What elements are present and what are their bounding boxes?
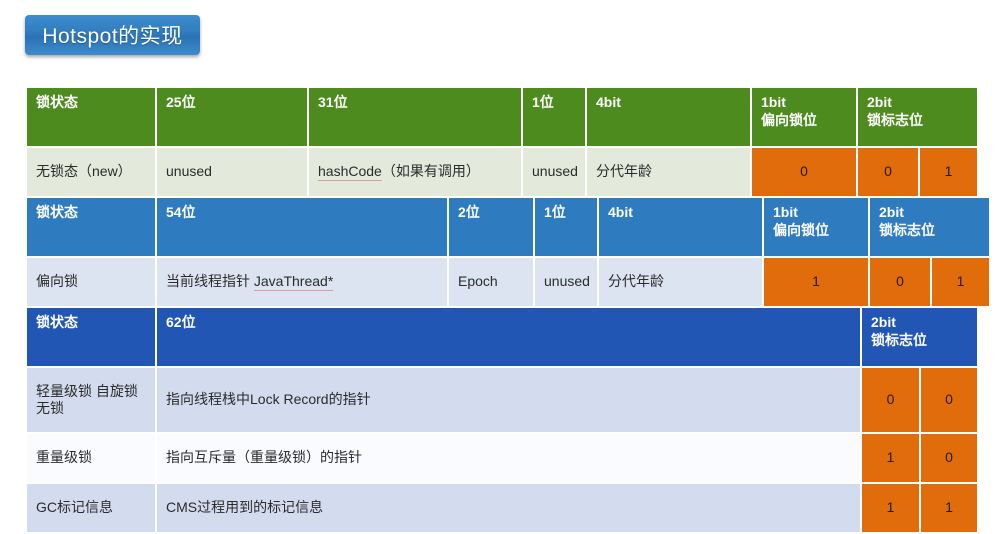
header-lock-flag-bits: 2bit 锁标志位 xyxy=(870,198,989,256)
header-lock-flag-size: 2bit xyxy=(879,204,981,222)
cell-lock-flag-bit-1: 1 xyxy=(862,434,919,482)
cell-biased-lock-bit: 0 xyxy=(752,148,856,196)
header-lock-state: 锁状态 xyxy=(27,88,155,146)
table-row: 重量级锁 指向互斥量（重量级锁）的指针 1 0 xyxy=(27,434,977,482)
header-25-bits: 25位 xyxy=(157,88,307,146)
table-row: 轻量级锁 自旋锁 无锁 指向线程栈中Lock Record的指针 0 0 xyxy=(27,368,977,432)
cell-lock-flag-bit-2: 1 xyxy=(921,484,977,532)
cell-lock-state: GC标记信息 xyxy=(27,484,155,532)
cell-lock-flag-bit-2: 1 xyxy=(932,258,989,306)
header-biased-lock-bit-size: 1bit xyxy=(773,204,860,222)
cell-lock-flag-bit-2: 0 xyxy=(921,434,977,482)
cell-lock-flag-bit-1: 0 xyxy=(862,368,919,432)
header-biased-lock-bit-label: 偏向锁位 xyxy=(761,112,848,130)
cell-31-bits: hashCode（如果有调用） xyxy=(309,148,521,196)
cell-25-bits: unused xyxy=(157,148,307,196)
cell-1-bit: unused xyxy=(535,258,597,306)
table-header-row: 锁状态 54位 2位 1位 4bit 1bit 偏向锁位 2bit 锁标志位 xyxy=(27,198,989,256)
header-lock-state: 锁状态 xyxy=(27,308,155,366)
cell-lock-flag-bit-1: 1 xyxy=(862,484,919,532)
header-4-bit: 4bit xyxy=(599,198,762,256)
table-row: GC标记信息 CMS过程用到的标记信息 1 1 xyxy=(27,484,977,532)
table-markword-biased: 锁状态 54位 2位 1位 4bit 1bit 偏向锁位 2bit 锁标志位 偏… xyxy=(25,196,991,308)
header-biased-lock-bit-size: 1bit xyxy=(761,94,848,112)
table-row: 无锁态（new） unused hashCode（如果有调用） unused 分… xyxy=(27,148,977,196)
header-4-bit: 4bit xyxy=(587,88,750,146)
cell-lock-flag-bit-1: 0 xyxy=(870,258,930,306)
cell-lock-flag-bit-2: 0 xyxy=(921,368,977,432)
header-2-bits: 2位 xyxy=(449,198,533,256)
cell-lock-flag-bit-2: 1 xyxy=(920,148,977,196)
cell-62-bits: 指向互斥量（重量级锁）的指针 xyxy=(157,434,860,482)
header-1-bit: 1位 xyxy=(535,198,597,256)
hashcode-label: hashCode xyxy=(318,163,382,181)
cell-54-bits: 当前线程指针 JavaThread* xyxy=(157,258,447,306)
table-row: 偏向锁 当前线程指针 JavaThread* Epoch unused 分代年龄… xyxy=(27,258,989,306)
header-lock-flag-label: 锁标志位 xyxy=(867,112,969,130)
page-title: Hotspot的实现 xyxy=(42,20,182,50)
header-62-bits: 62位 xyxy=(157,308,860,366)
cell-lock-state: 无锁态（new） xyxy=(27,148,155,196)
header-biased-lock-bit: 1bit 偏向锁位 xyxy=(764,198,868,256)
cell-62-bits: CMS过程用到的标记信息 xyxy=(157,484,860,532)
header-lock-flag-size: 2bit xyxy=(867,94,969,112)
header-54-bits: 54位 xyxy=(157,198,447,256)
header-31-bits: 31位 xyxy=(309,88,521,146)
header-biased-lock-bit: 1bit 偏向锁位 xyxy=(752,88,856,146)
header-biased-lock-bit-label: 偏向锁位 xyxy=(773,222,860,240)
header-lock-flag-size: 2bit xyxy=(871,314,969,332)
header-lock-flag-bits: 2bit 锁标志位 xyxy=(862,308,977,366)
table-markword-unlocked: 锁状态 25位 31位 1位 4bit 1bit 偏向锁位 2bit 锁标志位 … xyxy=(25,86,979,198)
cell-lock-flag-bit-1: 0 xyxy=(858,148,918,196)
cell-lock-state: 轻量级锁 自旋锁 无锁 xyxy=(27,368,155,432)
header-lock-flag-label: 锁标志位 xyxy=(871,332,969,350)
cell-62-bits: 指向线程栈中Lock Record的指针 xyxy=(157,368,860,432)
thread-pointer-label: 当前线程指针 xyxy=(166,273,254,289)
cell-biased-lock-bit: 1 xyxy=(764,258,868,306)
header-lock-flag-bits: 2bit 锁标志位 xyxy=(858,88,977,146)
header-lock-flag-label: 锁标志位 xyxy=(879,222,981,240)
cell-4-bit: 分代年龄 xyxy=(587,148,750,196)
hashcode-note: （如果有调用） xyxy=(382,163,480,179)
cell-lock-state: 重量级锁 xyxy=(27,434,155,482)
lock-state-line-1: 轻量级锁 xyxy=(36,383,92,399)
table-markword-other: 锁状态 62位 2bit 锁标志位 轻量级锁 自旋锁 无锁 指向线程栈中Lock… xyxy=(25,306,979,534)
table-header-row: 锁状态 25位 31位 1位 4bit 1bit 偏向锁位 2bit 锁标志位 xyxy=(27,88,977,146)
header-1-bit: 1位 xyxy=(523,88,585,146)
cell-lock-state: 偏向锁 xyxy=(27,258,155,306)
cell-1-bit: unused xyxy=(523,148,585,196)
cell-2-bits: Epoch xyxy=(449,258,533,306)
javathread-label: JavaThread* xyxy=(254,273,333,291)
table-header-row: 锁状态 62位 2bit 锁标志位 xyxy=(27,308,977,366)
slide-title-badge: Hotspot的实现 xyxy=(25,15,200,55)
cell-4-bit: 分代年龄 xyxy=(599,258,762,306)
header-lock-state: 锁状态 xyxy=(27,198,155,256)
